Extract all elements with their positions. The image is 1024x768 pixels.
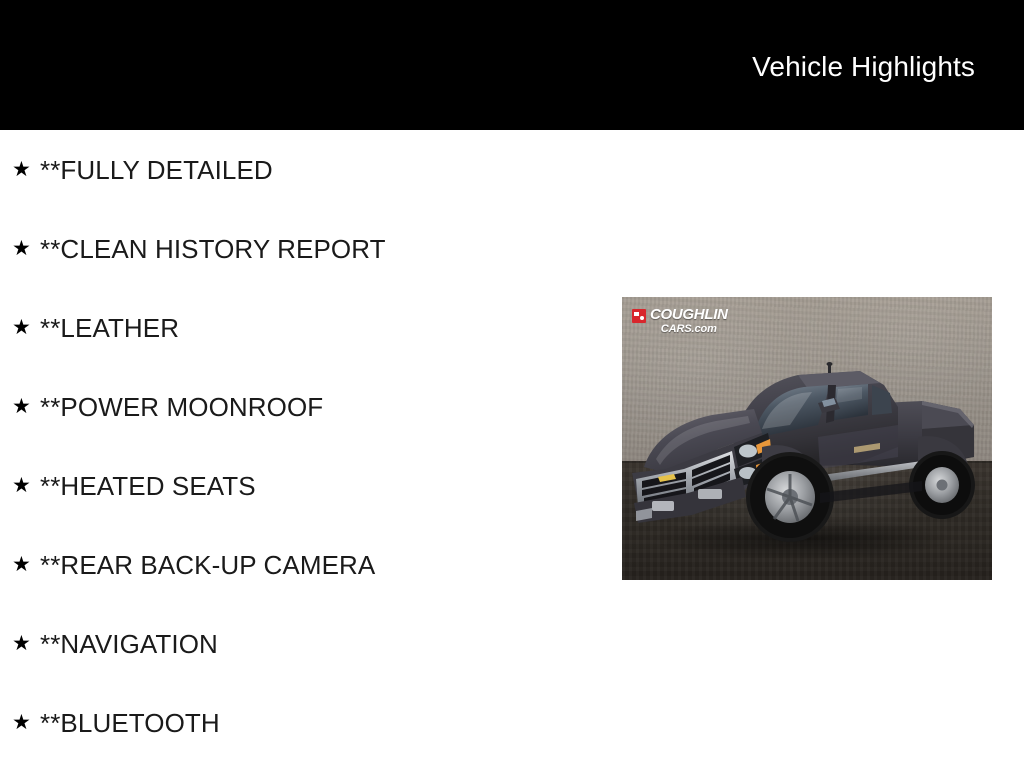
page-title: Vehicle Highlights (752, 50, 975, 83)
list-item-label: **CLEAN HISTORY REPORT (40, 234, 386, 264)
coughlin-logo-icon (632, 309, 646, 323)
list-item-label: **BLUETOOTH (40, 708, 220, 738)
list-item: ★ **POWER MOONROOF (0, 367, 560, 446)
list-item-label: **FULLY DETAILED (40, 155, 273, 185)
list-item: ★ **FULLY DETAILED (0, 130, 560, 209)
dealer-name-secondary: CARS.com (650, 323, 728, 336)
list-item-label: **POWER MOONROOF (40, 392, 323, 422)
list-item: ★ **HEATED SEATS (0, 446, 560, 525)
list-item: ★ **BLUETOOTH (0, 683, 560, 762)
star-bullet-icon: ★ (12, 396, 40, 417)
vehicle-highlights-list: ★ **FULLY DETAILED ★ **CLEAN HISTORY REP… (0, 130, 560, 762)
list-item: ★ **REAR BACK-UP CAMERA (0, 525, 560, 604)
pickup-truck-illustration (622, 297, 992, 580)
list-item-label: **HEATED SEATS (40, 471, 256, 501)
header-bar: Vehicle Highlights (0, 0, 1024, 130)
star-bullet-icon: ★ (12, 317, 40, 338)
dealer-name-primary: COUGHLIN (650, 307, 728, 322)
star-bullet-icon: ★ (12, 475, 40, 496)
star-bullet-icon: ★ (12, 554, 40, 575)
list-item-label: **LEATHER (40, 313, 179, 343)
star-bullet-icon: ★ (12, 712, 40, 733)
vehicle-highlights-page: Vehicle Highlights ★ **FULLY DETAILED ★ … (0, 0, 1024, 768)
list-item: ★ **CLEAN HISTORY REPORT (0, 209, 560, 288)
vehicle-photo: COUGHLIN CARS.com (622, 297, 992, 580)
list-item: ★ **LEATHER (0, 288, 560, 367)
dealer-watermark: COUGHLIN CARS.com (632, 307, 728, 336)
star-bullet-icon: ★ (12, 238, 40, 259)
list-item-label: **NAVIGATION (40, 629, 218, 659)
list-item: ★ **NAVIGATION (0, 604, 560, 683)
dealer-wordmark: COUGHLIN CARS.com (650, 307, 728, 336)
star-bullet-icon: ★ (12, 159, 40, 180)
star-bullet-icon: ★ (12, 633, 40, 654)
list-item-label: **REAR BACK-UP CAMERA (40, 550, 375, 580)
